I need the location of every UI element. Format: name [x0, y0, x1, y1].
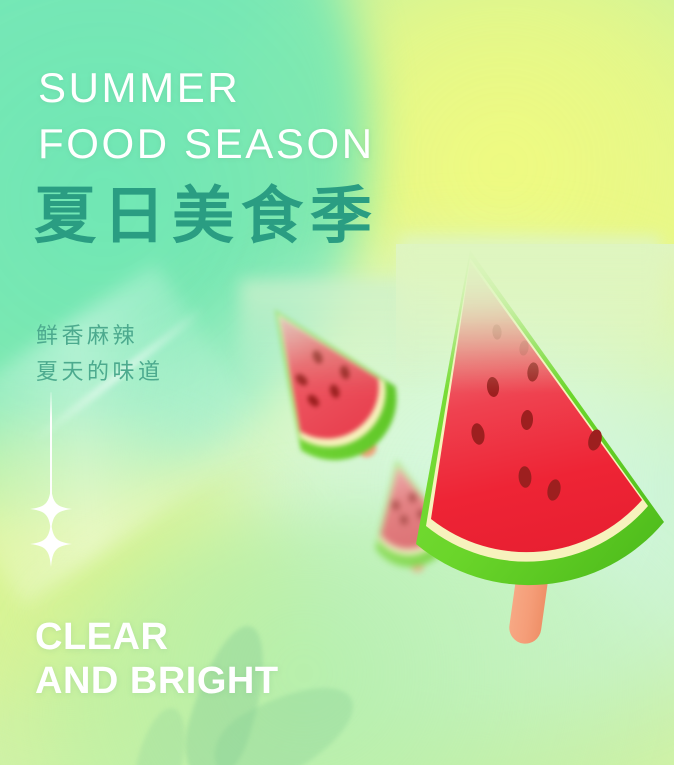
sparkle-icon [30, 521, 72, 567]
eyebrow-heading: SUMMER FOOD SEASON [38, 60, 598, 172]
footer-heading: CLEAR AND BRIGHT [35, 615, 279, 703]
subtitle-block: 鲜香麻辣 夏天的味道 [36, 318, 164, 390]
poster-canvas: SUMMER FOOD SEASON 夏日美食季 鲜香麻辣 夏天的味道 CLEA… [0, 0, 674, 765]
sparkle-decoration-group [26, 392, 80, 564]
page-title: 夏日美食季 [34, 186, 379, 248]
subtitle-line-2: 夏天的味道 [36, 354, 164, 390]
eyebrow-line-2: FOOD SEASON [38, 116, 598, 172]
footer-line-2: AND BRIGHT [35, 659, 279, 703]
subtitle-line-1: 鲜香麻辣 [36, 318, 164, 354]
eyebrow-line-1: SUMMER [38, 64, 240, 111]
poster-content: SUMMER FOOD SEASON 夏日美食季 鲜香麻辣 夏天的味道 CLEA… [0, 0, 674, 765]
footer-line-1: CLEAR [35, 615, 279, 659]
